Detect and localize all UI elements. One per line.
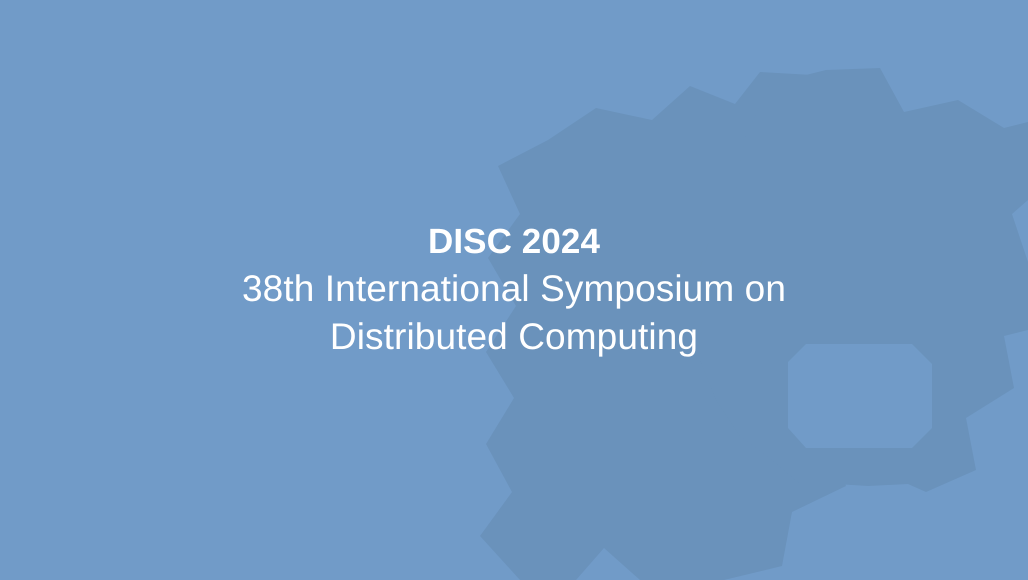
page-title: DISC 2024 [428, 219, 600, 265]
page-subtitle-line-1: 38th International Symposium on [242, 265, 786, 313]
title-slide: DISC 2024 38th International Symposium o… [0, 0, 1028, 580]
title-block: DISC 2024 38th International Symposium o… [0, 0, 1028, 580]
page-subtitle-line-2: Distributed Computing [330, 313, 698, 361]
